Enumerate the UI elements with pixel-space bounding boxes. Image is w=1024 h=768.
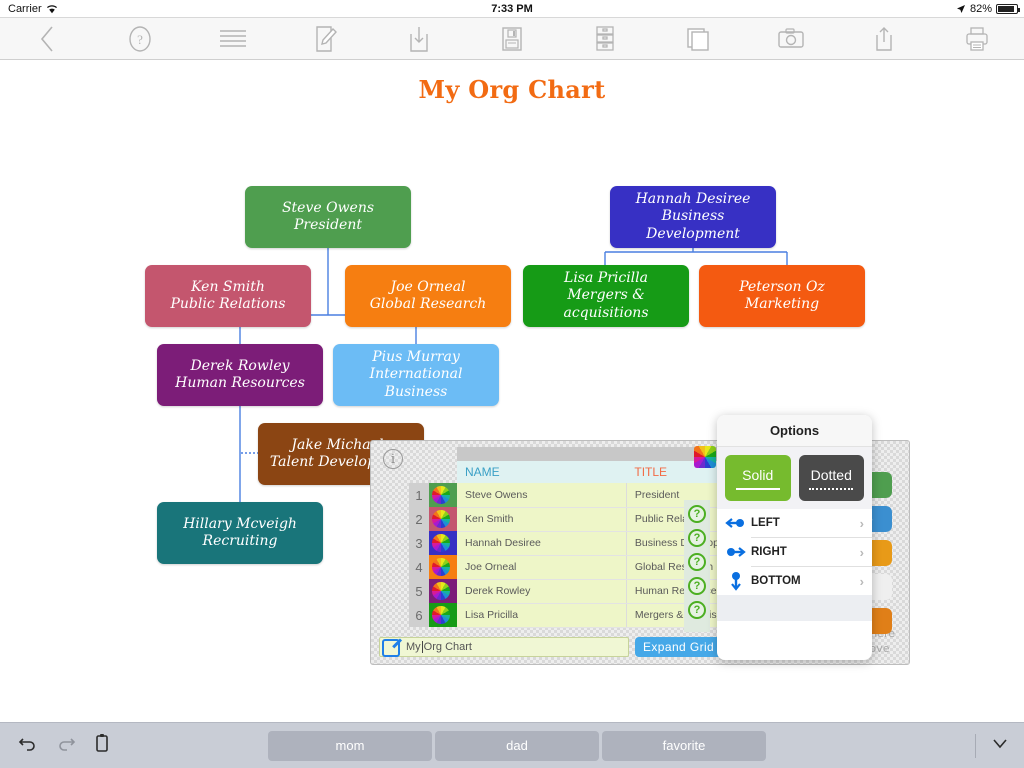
chart-node-ken[interactable]: Ken SmithPublic Relations xyxy=(145,265,311,327)
popover-title: Options xyxy=(717,415,872,447)
row-help-button[interactable]: ? xyxy=(688,577,706,595)
popover-row-label: BOTTOM xyxy=(751,575,860,587)
dotted-line-sample-icon xyxy=(809,488,853,490)
chevron-right-icon: › xyxy=(860,574,864,589)
node-title: Business Development xyxy=(618,208,768,243)
undo-arrow-icon[interactable] xyxy=(18,734,38,757)
arrow-down-dot-icon xyxy=(725,571,751,591)
row-index: 3 xyxy=(409,531,429,555)
camera-button[interactable] xyxy=(745,18,838,60)
row-help-button[interactable]: ? xyxy=(688,505,706,523)
color-wheel-icon xyxy=(432,486,450,504)
chart-name-after: Org Chart xyxy=(424,641,472,653)
node-title: Global Research xyxy=(370,296,487,314)
color-wheel-button[interactable] xyxy=(694,446,716,468)
node-title: Mergers & acquisitions xyxy=(531,287,681,322)
chart-node-hillary[interactable]: Hillary McveighRecruiting xyxy=(157,502,323,564)
node-title: President xyxy=(282,217,374,235)
save-button[interactable] xyxy=(465,18,558,60)
expand-grid-button[interactable]: Expand Grid xyxy=(635,637,722,657)
node-name: Derek Rowley xyxy=(175,358,305,376)
help-button[interactable]: ? xyxy=(93,18,186,60)
keyboard-suggestions: mom dad favorite xyxy=(268,731,766,761)
battery-percent-label: 82% xyxy=(970,3,992,15)
chart-node-pius[interactable]: Pius MurrayInternational Business xyxy=(333,344,499,406)
cell-name[interactable]: Ken Smith xyxy=(457,507,626,531)
pencil-square-icon xyxy=(382,639,400,657)
status-bar-right: 82% xyxy=(956,3,1018,15)
info-circle-icon[interactable]: i xyxy=(383,449,403,469)
bottom-bar-right xyxy=(975,734,1010,758)
popover-row-label: RIGHT xyxy=(751,546,860,558)
bottom-toolbar: mom dad favorite xyxy=(0,722,1024,768)
chart-node-lisa[interactable]: Lisa PricillaMergers & acquisitions xyxy=(523,265,689,327)
row-index: 2 xyxy=(409,507,429,531)
node-name: Hillary Mcveigh xyxy=(183,516,297,534)
clipboard-icon[interactable] xyxy=(94,733,110,758)
import-button[interactable] xyxy=(372,18,465,60)
edit-button[interactable] xyxy=(279,18,372,60)
status-bar: Carrier 7:33 PM 82% xyxy=(0,0,1024,18)
node-name: Lisa Pricilla xyxy=(531,270,681,288)
cell-name[interactable]: Joe Orneal xyxy=(457,555,626,579)
node-name: Steve Owens xyxy=(282,200,374,218)
chart-node-peterson[interactable]: Peterson OzMarketing xyxy=(699,265,865,327)
row-index: 5 xyxy=(409,579,429,603)
popover-row-label: LEFT xyxy=(751,517,860,529)
row-help-button[interactable]: ? xyxy=(688,601,706,619)
cell-name[interactable]: Derek Rowley xyxy=(457,579,626,603)
popover-empty-row xyxy=(717,595,872,621)
files-button[interactable] xyxy=(559,18,652,60)
row-swatch[interactable] xyxy=(429,579,457,603)
row-swatch[interactable] xyxy=(429,555,457,579)
pages-button[interactable] xyxy=(652,18,745,60)
popover-row-bottom[interactable]: BOTTOM › xyxy=(717,567,872,595)
node-title: International Business xyxy=(341,366,491,401)
app-root: Carrier 7:33 PM 82% ? xyxy=(0,0,1024,768)
back-button[interactable] xyxy=(0,18,93,60)
color-wheel-icon xyxy=(432,606,450,624)
edit-actions xyxy=(18,733,110,758)
top-toolbar: ? xyxy=(0,18,1024,60)
chevron-right-icon: › xyxy=(860,545,864,560)
row-swatch[interactable] xyxy=(429,531,457,555)
svg-text:?: ? xyxy=(137,32,143,47)
node-name: Joe Orneal xyxy=(370,279,487,297)
chart-name-input[interactable]: My Org Chart xyxy=(379,637,629,657)
page-title: My Org Chart xyxy=(0,75,1024,104)
row-help-button[interactable]: ? xyxy=(688,529,706,547)
list-button[interactable] xyxy=(186,18,279,60)
chart-node-joe[interactable]: Joe OrnealGlobal Research xyxy=(345,265,511,327)
suggestion-favorite[interactable]: favorite xyxy=(602,731,766,761)
redo-arrow-icon[interactable] xyxy=(56,734,76,757)
divider xyxy=(975,734,976,758)
dotted-style-button[interactable]: Dotted xyxy=(799,455,865,501)
node-title: Marketing xyxy=(739,296,825,314)
clock-label: 7:33 PM xyxy=(0,3,1024,15)
row-swatch[interactable] xyxy=(429,603,457,627)
row-swatch[interactable] xyxy=(429,483,457,507)
row-index: 1 xyxy=(409,483,429,507)
suggestion-dad[interactable]: dad xyxy=(435,731,599,761)
line-style-group: Solid Dotted xyxy=(717,447,872,509)
chart-node-hannah[interactable]: Hannah DesireeBusiness Development xyxy=(610,186,776,248)
node-title: Public Relations xyxy=(170,296,285,314)
chevron-right-icon: › xyxy=(860,516,864,531)
row-help-button[interactable]: ? xyxy=(688,553,706,571)
help-column: ? ? ? ? ? xyxy=(688,505,716,625)
row-index: 4 xyxy=(409,555,429,579)
column-header-name[interactable]: NAME xyxy=(457,461,626,483)
chart-name-before: My xyxy=(406,641,421,653)
suggestion-mom[interactable]: mom xyxy=(268,731,432,761)
chart-node-steve[interactable]: Steve OwensPresident xyxy=(245,186,411,248)
options-popover[interactable]: Options Solid Dotted LEFT › RIGHT › xyxy=(717,415,872,660)
popover-row-right[interactable]: RIGHT › xyxy=(717,538,872,566)
node-title: Human Resources xyxy=(175,375,305,393)
color-wheel-icon xyxy=(432,510,450,528)
row-swatch[interactable] xyxy=(429,507,457,531)
arrow-left-dot-icon xyxy=(725,517,751,529)
share-button[interactable] xyxy=(838,18,931,60)
print-button[interactable] xyxy=(931,18,1024,60)
node-name: Ken Smith xyxy=(170,279,285,297)
solid-style-button[interactable]: Solid xyxy=(725,455,791,501)
location-arrow-icon xyxy=(956,4,966,14)
node-name: Peterson Oz xyxy=(739,279,825,297)
chevron-down-icon[interactable] xyxy=(990,736,1010,755)
arrow-right-dot-icon xyxy=(725,546,751,558)
cell-name[interactable]: Lisa Pricilla xyxy=(457,603,626,627)
node-name: Pius Murray xyxy=(341,349,491,367)
cell-name[interactable]: Steve Owens xyxy=(457,483,626,507)
color-wheel-icon xyxy=(432,582,450,600)
solid-line-sample-icon xyxy=(736,488,780,490)
text-caret xyxy=(422,641,423,653)
chart-node-derek[interactable]: Derek RowleyHuman Resources xyxy=(157,344,323,406)
node-title: Recruiting xyxy=(183,533,297,551)
node-name: Hannah Desiree xyxy=(618,191,768,209)
color-wheel-icon xyxy=(432,558,450,576)
battery-icon xyxy=(996,4,1018,14)
color-wheel-icon xyxy=(432,534,450,552)
row-index: 6 xyxy=(409,603,429,627)
cell-name[interactable]: Hannah Desiree xyxy=(457,531,626,555)
popover-row-left[interactable]: LEFT › xyxy=(717,509,872,537)
color-wheel-icon xyxy=(694,446,716,468)
